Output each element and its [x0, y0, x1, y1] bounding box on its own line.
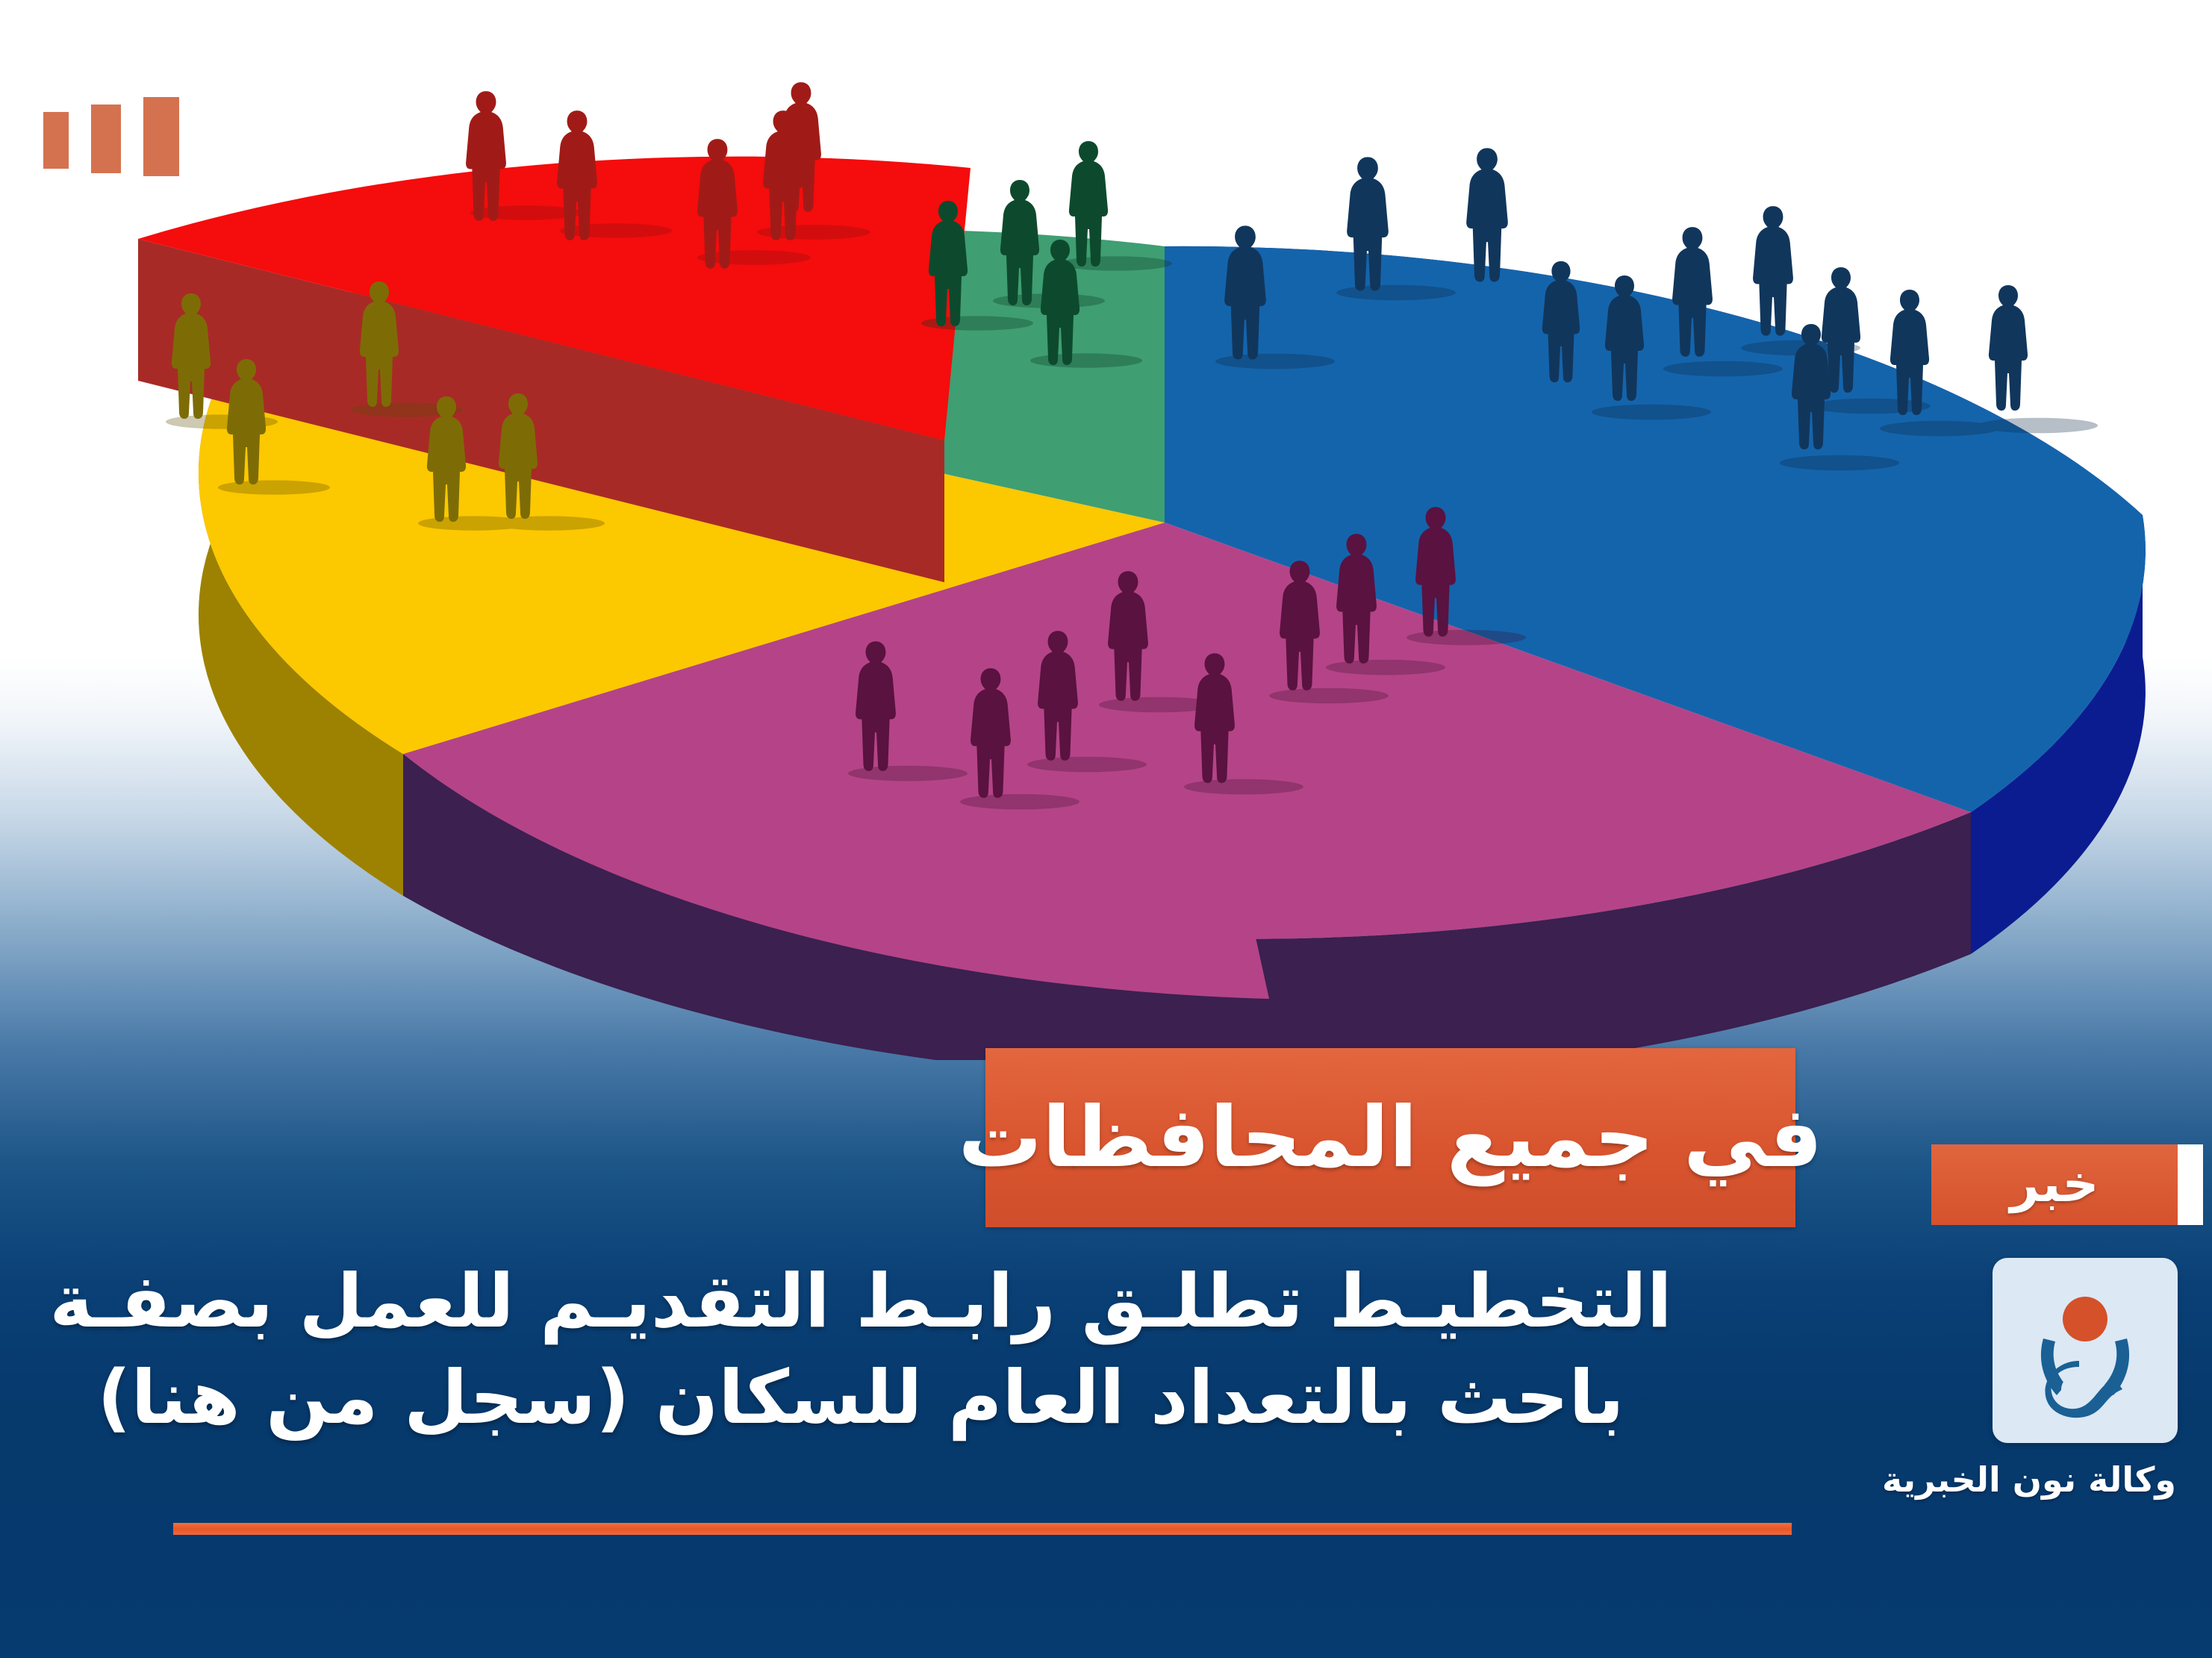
pie-chart-illustration	[0, 0, 2212, 1060]
brand-column: خبر وكالة نون الخبرية	[1864, 1144, 2178, 1497]
news-badge-accent-bar	[2178, 1144, 2203, 1225]
banner-in-all-governorates: في جميع المحافظات	[985, 1048, 1795, 1227]
logo-head-circle	[2063, 1297, 2107, 1341]
news-badge-label: خبر	[2010, 1159, 2099, 1210]
divider-rule	[173, 1523, 1792, 1535]
noon-agency-logo-icon	[2010, 1276, 2160, 1425]
headline-line-2: باحث بالتعداد العام للسكان (سجل من هنا)	[47, 1350, 1674, 1447]
poster-canvas: في جميع المحافظات التخطيـط تطلـق رابـط ا…	[0, 0, 2212, 1658]
agency-logo	[1993, 1258, 2178, 1443]
news-badge: خبر	[1931, 1144, 2178, 1225]
pie-chart-svg	[0, 0, 2212, 1060]
agency-name: وكالة نون الخبرية	[1864, 1462, 2178, 1497]
logo-swirl-hole	[2061, 1376, 2088, 1403]
banner-text: في جميع المحافظات	[958, 1096, 1822, 1179]
headline-block: التخطيـط تطلـق رابـط التقديـم للعمل بصفـ…	[47, 1254, 1674, 1446]
headline-line-1: التخطيـط تطلـق رابـط التقديـم للعمل بصفـ…	[47, 1254, 1674, 1350]
